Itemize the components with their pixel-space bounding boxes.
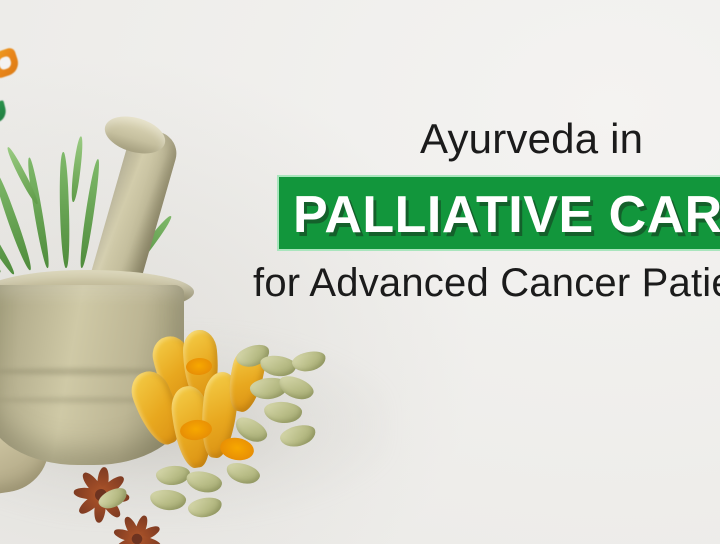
cardamom-pod — [263, 401, 302, 425]
cardamom-pod — [187, 495, 224, 520]
cardamom-pod — [149, 488, 187, 512]
logo-orange-leaf-icon — [0, 47, 21, 80]
cardamom-pod — [259, 354, 297, 379]
cardamom-pod — [184, 468, 223, 495]
cardamom-pod — [278, 422, 318, 450]
cardamom-pod — [290, 349, 327, 375]
headline-line-bottom: for Advanced Cancer Patients — [253, 258, 720, 308]
headline-highlight-text: PALLIATIVE CARE — [293, 183, 720, 247]
cardamom-pod — [224, 460, 262, 488]
cardamom-pod — [155, 465, 190, 486]
cardamom-pod — [276, 372, 317, 404]
banner-canvas: Ayurveda in PALLIATIVE CARE for Advanced… — [0, 0, 720, 544]
headline-line-top: Ayurveda in — [420, 114, 643, 164]
headline-highlight-band: PALLIATIVE CARE — [277, 175, 720, 251]
